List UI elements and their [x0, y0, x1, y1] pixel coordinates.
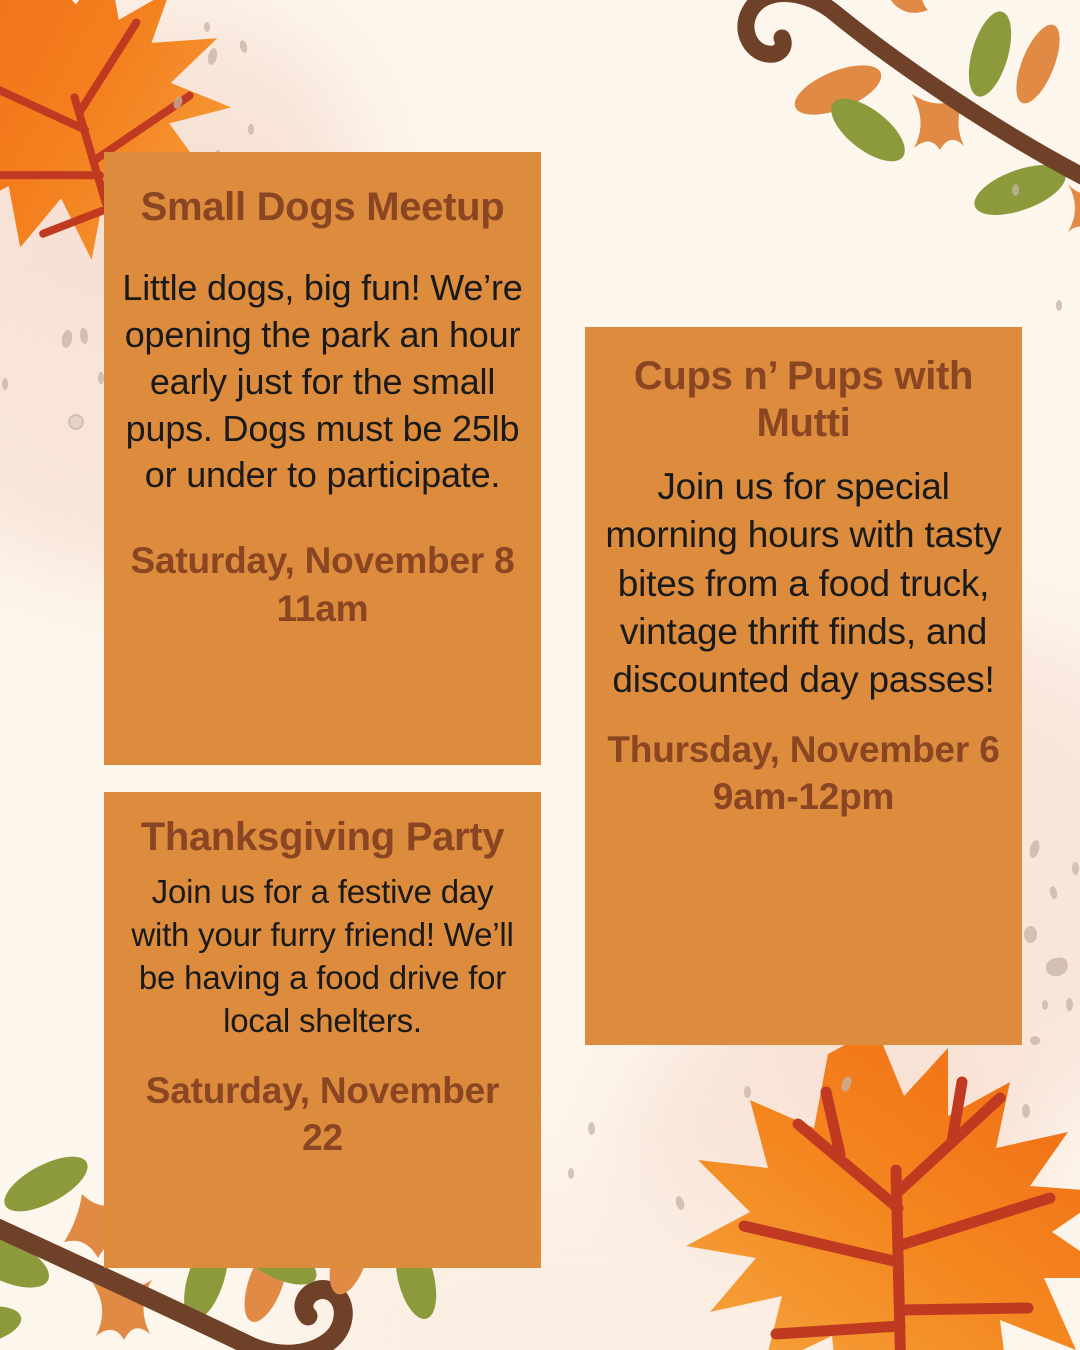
speckle — [840, 1075, 854, 1093]
speckle — [239, 39, 249, 53]
speckle — [1066, 998, 1073, 1011]
branch-top-right-icon — [690, 0, 1080, 268]
event-card-cups-n-pups: Cups n’ Pups with Mutti Join us for spec… — [585, 327, 1022, 1045]
speckle — [1072, 862, 1079, 875]
speckle — [1024, 926, 1037, 943]
speckle — [1056, 300, 1062, 311]
speckle — [248, 124, 254, 135]
speckle — [1030, 1036, 1040, 1045]
speckle — [172, 95, 184, 110]
speckle — [1022, 1104, 1030, 1118]
speckle — [1028, 839, 1041, 859]
event-datetime: Saturday, November 8 11am — [122, 499, 523, 632]
speckle — [744, 1086, 751, 1098]
speckle — [79, 328, 89, 345]
event-title: Thanksgiving Party — [122, 792, 523, 861]
speckle — [204, 22, 210, 32]
speckle — [1042, 1000, 1048, 1010]
speckle — [1012, 184, 1019, 196]
speckle — [568, 1168, 574, 1179]
event-description: Little dogs, big fun! We’re opening the … — [122, 231, 523, 499]
event-card-thanksgiving: Thanksgiving Party Join us for a festive… — [104, 792, 541, 1268]
event-description: Join us for special morning hours with t… — [603, 447, 1004, 703]
maple-leaf-bottom-right-icon — [680, 1020, 1080, 1350]
speckle — [68, 414, 84, 430]
event-card-small-dogs: Small Dogs Meetup Little dogs, big fun! … — [104, 152, 541, 765]
speckle — [674, 1195, 686, 1211]
speckle — [1049, 885, 1059, 899]
event-description: Join us for a festive day with your furr… — [122, 861, 523, 1043]
event-title: Cups n’ Pups with Mutti — [603, 327, 1004, 447]
autumn-events-poster: Small Dogs Meetup Little dogs, big fun! … — [0, 0, 1080, 1350]
speckle — [1045, 956, 1070, 978]
event-datetime: Thursday, November 6 9am-12pm — [603, 704, 1004, 821]
speckle — [2, 378, 8, 390]
event-datetime: Saturday, November 22 — [122, 1043, 523, 1162]
speckle — [61, 329, 74, 348]
speckle — [206, 47, 218, 65]
speckle — [588, 1122, 595, 1135]
event-title: Small Dogs Meetup — [122, 152, 523, 231]
